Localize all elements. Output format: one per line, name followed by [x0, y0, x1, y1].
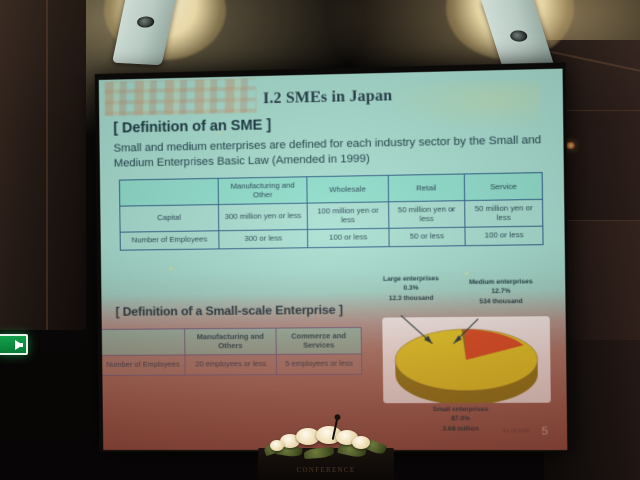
label-name: Small enterprises	[398, 405, 524, 415]
cell-smallscale-manufacturing: 20 employees or less	[185, 354, 277, 375]
section-heading-small-scale-definition: [ Definition of a Small-scale Enterprise…	[115, 303, 342, 319]
cell-employees-service: 100 or less	[465, 226, 543, 246]
row-header-employees: Number of Employees	[120, 230, 219, 249]
small-scale-definition-table: Manufacturing and Others Commerce and Se…	[100, 327, 362, 376]
cell-employees-retail: 50 or less	[389, 227, 466, 246]
podium-branding-text: CONFERENCE	[258, 466, 394, 474]
cell-employees-manufacturing: 300 or less	[219, 229, 308, 248]
sme-definition-paragraph: Small and medium enterprises are defined…	[113, 133, 551, 172]
flower-arrangement	[262, 424, 390, 458]
label-percent: 87.0%	[398, 414, 524, 424]
row-header-employees: Number of Employees	[101, 354, 186, 375]
slide-content: I.2 SMEs in Japan [ Definition of an SME…	[99, 69, 568, 451]
presentation-slide: I.2 SMEs in Japan [ Definition of an SME…	[99, 69, 568, 451]
column-header-wholesale: Wholesale	[307, 175, 388, 203]
row-header-capital: Capital	[120, 204, 219, 232]
cell-capital-wholesale: 100 million yen or less	[307, 202, 388, 230]
cell-capital-retail: 50 million yen or less	[388, 200, 465, 228]
table-corner-cell	[100, 329, 185, 355]
column-header-manufacturing-others: Manufacturing and Others	[185, 328, 277, 354]
cell-smallscale-commerce: 5 employees or less	[276, 353, 361, 374]
flower-bloom	[352, 436, 370, 449]
slide-page-number: 5	[541, 425, 548, 437]
sme-definition-table: Manufacturing and Other Wholesale Retail…	[119, 172, 544, 251]
leaf	[304, 447, 335, 459]
column-header-retail: Retail	[388, 174, 465, 202]
projection-screen: I.2 SMEs in Japan [ Definition of an SME…	[95, 62, 571, 452]
projection-screen-wrap: I.2 SMEs in Japan [ Definition of an SME…	[0, 0, 640, 480]
cell-capital-service: 50 million yen or less	[465, 199, 543, 227]
flower-bloom	[270, 440, 284, 451]
column-header-manufacturing: Manufacturing and Other	[218, 177, 307, 205]
cell-capital-manufacturing: 300 million yen or less	[218, 203, 307, 231]
column-header-service: Service	[465, 172, 543, 200]
chart-callout-arrows	[363, 298, 563, 361]
conference-room-photo: I.2 SMEs in Japan [ Definition of an SME…	[0, 0, 640, 480]
cell-employees-wholesale: 100 or less	[308, 228, 389, 247]
chart-as-of-note: As of 2006	[503, 429, 530, 435]
column-header-commerce-services: Commerce and Services	[276, 327, 361, 353]
table-corner-cell	[119, 178, 218, 206]
slide-title: I.2 SMEs in Japan	[109, 83, 552, 111]
section-heading-sme-definition: [ Definition of an SME ]	[113, 111, 552, 137]
table-header-row: Manufacturing and Others Commerce and Se…	[100, 327, 361, 355]
enterprise-distribution-chart: Large enterprises 0.3% 12.3 thousand Med…	[363, 273, 564, 438]
table-row: Number of Employees 20 employees or less…	[101, 353, 362, 375]
